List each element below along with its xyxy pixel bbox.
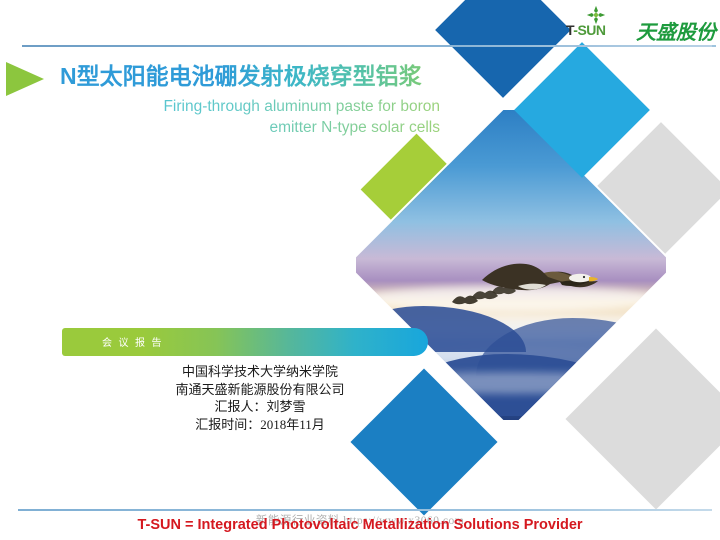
page-subtitle: Firing-through aluminum paste for boron … (80, 96, 440, 138)
green-triangle-arrow-icon (6, 62, 44, 96)
affiliation-line-date: 汇报时间：2018年11月 (100, 416, 420, 434)
ribbon-label: 会 议 报 告 (102, 334, 164, 349)
brand-latin-name: T-SUN (566, 22, 606, 38)
bald-eagle-icon (476, 256, 604, 296)
report-ribbon-banner: 会 议 报 告 (62, 328, 428, 356)
footer-divider (18, 509, 712, 511)
affiliation-line-presenter: 汇报人：刘梦雪 (100, 398, 420, 416)
diamond-gray-lower (565, 328, 720, 509)
brand-latin-rest: -SUN (573, 22, 605, 38)
brand-chinese-name: 天盛股份 (636, 16, 716, 45)
brand-logo: T-SUN 天盛股份 (566, 4, 716, 44)
affiliation-line-company: 南通天盛新能源股份有限公司 (100, 381, 420, 399)
page-subtitle-line-2: emitter N-type solar cells (80, 117, 440, 138)
page-title: N型太阳能电池硼发射极烧穿型铝浆 (60, 62, 480, 90)
affiliation-line-institute: 中国科学技术大学纳米学院 (100, 363, 420, 381)
header-divider (22, 45, 712, 47)
page-subtitle-line-1: Firing-through aluminum paste for boron (80, 96, 440, 117)
affiliation-block: 中国科学技术大学纳米学院 南通天盛新能源股份有限公司 汇报人：刘梦雪 汇报时间：… (100, 363, 420, 433)
presentation-slide: T-SUN 天盛股份 N型太阳能电池硼发射极烧穿型铝浆 Firing-throu… (0, 0, 720, 540)
footer-tagline: T-SUN = Integrated Photovoltaic Metalliz… (0, 517, 720, 533)
